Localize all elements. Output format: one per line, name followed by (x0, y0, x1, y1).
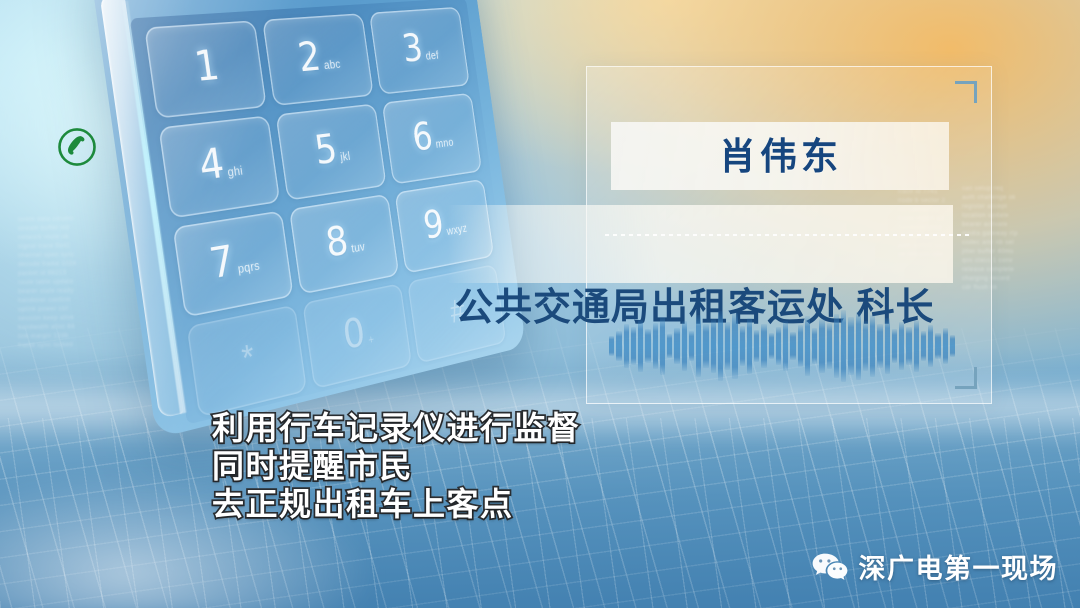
waveform-bar (841, 310, 846, 382)
keypad-digit: 6 (410, 114, 436, 160)
waveform-bar (856, 312, 861, 380)
guest-title-plate (447, 205, 953, 283)
waveform-bar (631, 327, 636, 365)
waveform-bar (848, 317, 853, 375)
phone-handset-icon (56, 126, 98, 168)
keypad-digit: * (239, 336, 257, 379)
waveform-bar (616, 331, 621, 361)
keypad-digit: 3 (400, 26, 426, 71)
keypad-key-3[interactable]: 3def (369, 7, 470, 95)
waveform-bar (805, 316, 810, 376)
keypad-letters: abc (323, 58, 341, 72)
corner-bracket-tr-icon (955, 81, 977, 103)
waveform-bar (783, 321, 788, 371)
waveform-bar (921, 331, 926, 361)
waveform-bar (711, 319, 716, 373)
waveform-bar (834, 314, 839, 378)
waveform-bar (798, 325, 803, 367)
waveform-bar (892, 329, 897, 363)
waveform-bar (703, 324, 708, 368)
waveform-bar (819, 319, 824, 373)
keypad-letters: pqrs (237, 259, 261, 276)
keypad-digit: 7 (206, 237, 237, 290)
waveform-bar (689, 331, 694, 361)
keypad-key-6[interactable]: 6mno (381, 93, 482, 185)
waveform-bar (667, 334, 672, 358)
waveform-bar (943, 328, 948, 364)
keypad-letters: jkl (339, 149, 351, 163)
keypad-letters: + (367, 333, 375, 347)
keypad-letters: def (425, 49, 440, 62)
waveform-bar (761, 324, 766, 368)
waveform-bar (885, 318, 890, 374)
waveform-bar (747, 318, 752, 374)
waveform-bar (950, 335, 955, 357)
watermark-label: 深广电第一现场 (859, 547, 1059, 586)
waveform-bar (812, 328, 817, 364)
keypad-key-7[interactable]: 7pqrs (172, 210, 293, 318)
keypad-digit: 2 (295, 34, 323, 82)
subtitle-line: 去正规出租车上客点 (212, 486, 581, 524)
keypad-digit: 4 (196, 139, 227, 191)
keypad-digit: 8 (323, 218, 351, 268)
waveform-bar (674, 328, 679, 364)
waveform-bar (827, 323, 832, 369)
waveform-bar (718, 311, 723, 381)
waveform-bar (776, 327, 781, 365)
subtitle-block: 利用行车记录仪进行监督 同时提醒市民 去正规出租车上客点 (212, 410, 581, 523)
guest-name-plate: 肖伟东 (611, 122, 949, 190)
keypad-key-5[interactable]: 5jkl (276, 103, 387, 200)
waveform-bar (725, 322, 730, 370)
waveform-bar (660, 317, 665, 375)
waveform-bar (682, 321, 687, 371)
keypad-digit: 9 (421, 202, 447, 249)
waveform-bar (935, 333, 940, 359)
waveform-bar (609, 336, 614, 356)
waveform-bar (928, 325, 933, 367)
guest-name: 肖伟东 (719, 138, 842, 175)
subtitle-line: 利用行车记录仪进行监督 (212, 410, 581, 448)
waveform-bar (870, 315, 875, 377)
waveform-bar (877, 324, 882, 368)
keypad-key-4[interactable]: 4ghi (158, 115, 280, 218)
keypad-digit: 0 (340, 309, 368, 360)
subtitle-line: 同时提醒市民 (212, 448, 581, 486)
wechat-icon (811, 552, 849, 582)
waveform-bar (906, 327, 911, 365)
waveform-bar (696, 315, 701, 377)
waveform-bar (732, 313, 737, 379)
channel-watermark: 深广电第一现场 (811, 547, 1059, 586)
waveform-bar (899, 322, 904, 370)
waveform-bar (624, 324, 629, 368)
waveform-bar (790, 332, 795, 360)
corner-bracket-br-icon (955, 367, 977, 389)
waveform-bar (914, 320, 919, 372)
waveform-bar (740, 326, 745, 366)
keypad-letters: mno (435, 136, 454, 151)
keypad-key-2[interactable]: 2abc (262, 13, 373, 106)
waveform-center-line (605, 234, 973, 236)
waveform-bar (645, 329, 650, 363)
waveform-bar (638, 320, 643, 372)
keypad-digit: 5 (312, 125, 340, 174)
keypad-key-1[interactable]: 1 (144, 20, 267, 118)
guest-info-panel: 肖伟东 公共交通局出租客运处 科长 (586, 66, 992, 404)
waveform-bar (863, 321, 868, 371)
keypad-letters: tuv (351, 240, 366, 255)
broadcast-frame: lorem data column stream buffer init net… (0, 0, 1080, 608)
waveform-bar (754, 330, 759, 362)
waveform-bar (653, 323, 658, 369)
keypad-digit: 1 (191, 41, 222, 91)
keypad-key-8[interactable]: 8tuv (289, 193, 399, 294)
keypad-letters: ghi (227, 164, 244, 179)
audio-waveform (609, 303, 955, 389)
waveform-bar (769, 333, 774, 359)
